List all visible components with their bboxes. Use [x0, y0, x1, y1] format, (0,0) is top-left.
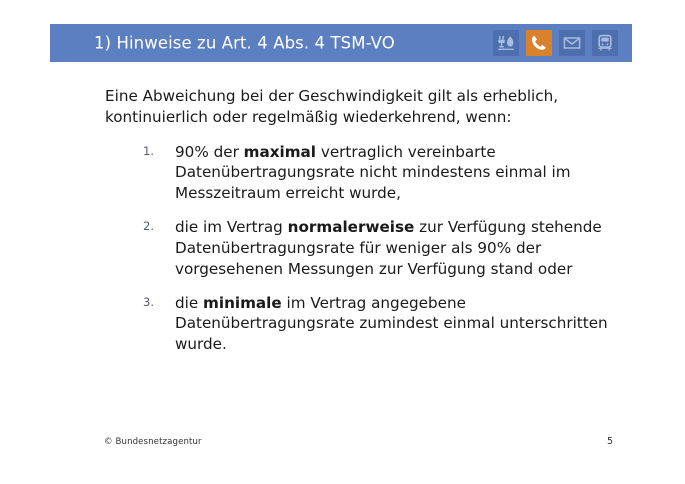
list-item-number: 2.	[143, 219, 165, 235]
list-item-emphasis: normalerweise	[288, 218, 415, 236]
footer-page-number: 5	[607, 436, 613, 447]
numbered-list: 1. 90% der maximal vertraglich vereinbar…	[143, 142, 613, 355]
telecommunication-phone-icon[interactable]	[526, 30, 552, 56]
list-item-number: 3.	[143, 295, 165, 311]
slide-body: Eine Abweichung bei der Geschwindigkeit …	[0, 86, 685, 355]
list-item-text-part1: die	[175, 294, 203, 312]
list-item: 3. die minimale im Vertrag angegebene Da…	[143, 293, 613, 355]
page-title: 1) Hinweise zu Art. 4 Abs. 4 TSM-VO	[94, 34, 395, 53]
slide-title-bar: 1) Hinweise zu Art. 4 Abs. 4 TSM-VO	[50, 24, 632, 62]
lead-paragraph: Eine Abweichung bei der Geschwindigkeit …	[105, 86, 605, 128]
sector-icon-strip	[493, 30, 618, 56]
list-item: 2. die im Vertrag normalerweise zur Verf…	[143, 217, 613, 279]
list-item-emphasis: minimale	[203, 294, 282, 312]
post-mail-icon[interactable]	[559, 30, 585, 56]
list-item-text-part1: 90% der	[175, 143, 244, 161]
list-item: 1. 90% der maximal vertraglich vereinbar…	[143, 142, 613, 204]
electricity-gas-icon[interactable]	[493, 30, 519, 56]
list-item-number: 1.	[143, 144, 165, 160]
list-item-text-part1: die im Vertrag	[175, 218, 288, 236]
list-item-emphasis: maximal	[244, 143, 316, 161]
slide: 1) Hinweise zu Art. 4 Abs. 4 TSM-VO	[0, 0, 685, 484]
railway-train-icon[interactable]	[592, 30, 618, 56]
footer-copyright: © Bundesnetzagentur	[104, 437, 202, 447]
